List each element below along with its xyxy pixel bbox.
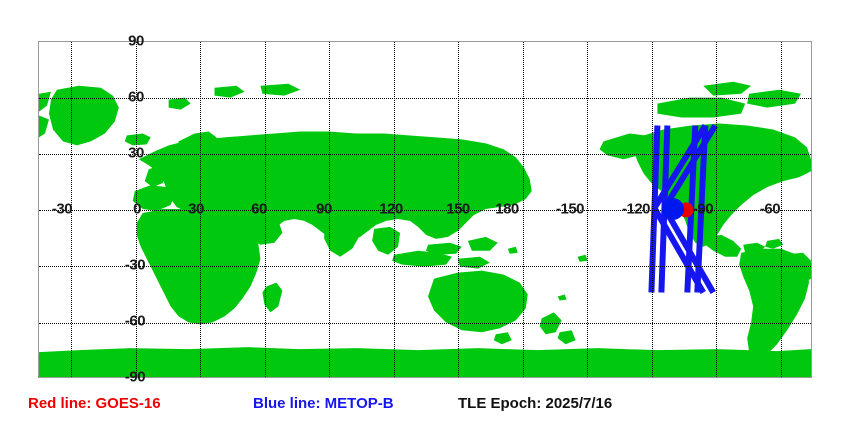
lat-label--30: -30 <box>125 258 145 273</box>
lon-label--120: -120 <box>622 202 650 217</box>
lat-label--90: -90 <box>125 370 145 385</box>
lon-label-120: 120 <box>379 202 403 217</box>
lon-label-150: 150 <box>446 202 470 217</box>
lon-label--150: -150 <box>556 202 584 217</box>
lon-label-90: 90 <box>316 202 332 217</box>
lat-label--60: -60 <box>125 314 145 329</box>
legend-tle-epoch: TLE Epoch: 2025/7/16 <box>458 396 612 411</box>
lon-label--90: -90 <box>693 202 713 217</box>
lon-label-0: 0 <box>133 202 141 217</box>
lat-label-60: 60 <box>128 90 144 105</box>
legend-red-line-goes-16: Red line: GOES-16 <box>28 396 161 411</box>
lon-label--30: -30 <box>52 202 72 217</box>
lon-label--60: -60 <box>760 202 780 217</box>
legend: Red line: GOES-16 Blue line: METOP-B TLE… <box>0 392 850 422</box>
satellite-track-map-page: 90 60 30 -30 -60 -90 -30 0 30 60 90 120 … <box>0 0 850 425</box>
marker-metop-b[interactable] <box>662 198 684 220</box>
lon-label-180: 180 <box>495 202 519 217</box>
lat-label-90: 90 <box>128 34 144 49</box>
lon-label-60: 60 <box>251 202 267 217</box>
lat-label-30: 30 <box>128 146 144 161</box>
lon-label-30: 30 <box>188 202 204 217</box>
legend-blue-line-metop-b: Blue line: METOP-B <box>253 396 394 411</box>
